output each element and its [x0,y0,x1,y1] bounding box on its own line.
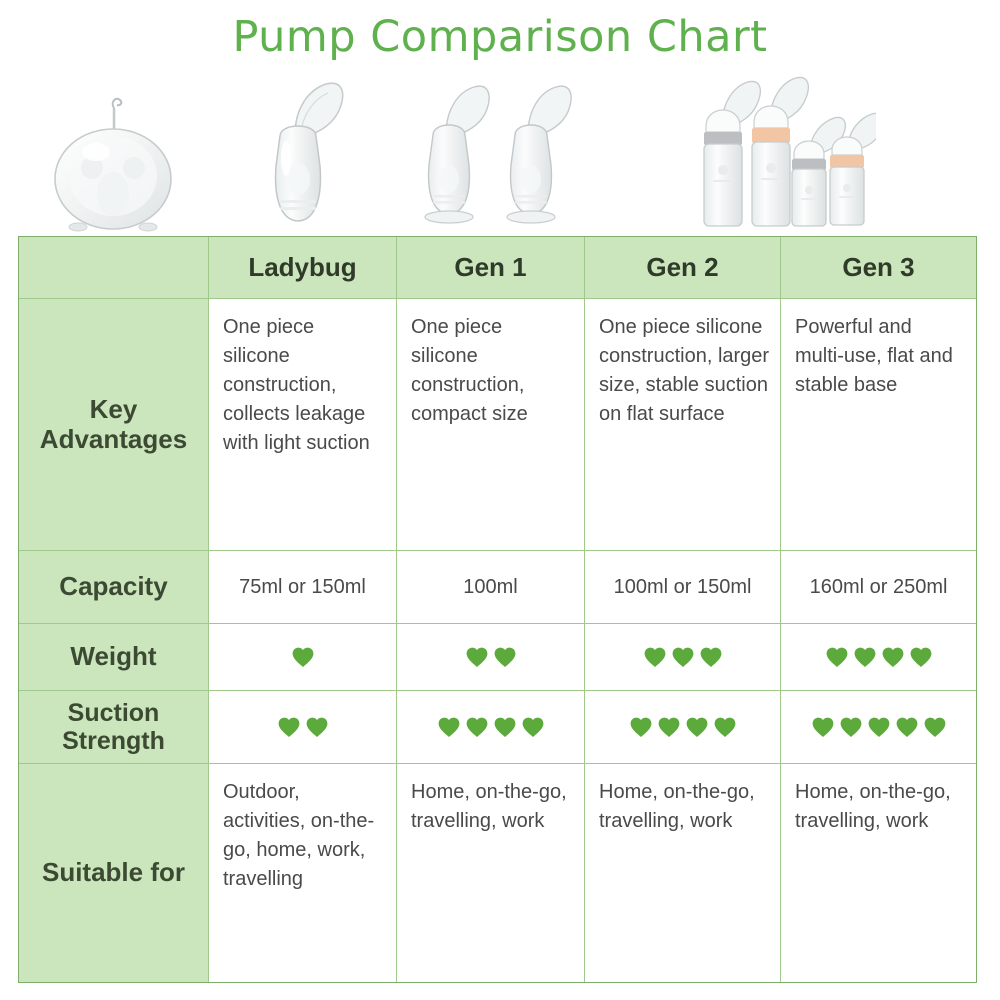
heart-icon [866,714,892,740]
table-row-capacity: Capacity 75ml or 150ml 100ml 100ml or 15… [19,551,976,624]
table-row-key-advantages: Key Advantages One piece silicone constr… [19,299,976,551]
row-label-suction-strength: Suction Strength [19,691,209,763]
heart-icon [894,714,920,740]
heart-icon [670,644,696,670]
heart-icon [880,644,906,670]
heart-icon [698,644,724,670]
heart-icon [642,644,668,670]
heart-icon [520,714,546,740]
table-corner-cell [19,237,209,298]
comparison-table: Ladybug Gen 1 Gen 2 Gen 3 Key Advantages… [18,236,977,983]
cell-weight-ladybug [209,624,397,690]
row-label-suitable-for: Suitable for [19,764,209,982]
cell-suction-gen3 [781,691,976,763]
heart-icon [492,644,518,670]
cell-weight-gen2 [585,624,781,690]
heart-icon [838,714,864,740]
cell-key-advantages-ladybug: One piece silicone construction, collect… [209,299,397,550]
cell-capacity-gen2: 100ml or 150ml [585,551,781,623]
cell-suitable-ladybug: Outdoor, activities, on-the-go, home, wo… [209,764,397,982]
heart-icon [908,644,934,670]
row-label-capacity: Capacity [19,551,209,623]
heart-icon [492,714,518,740]
heart-icon [276,714,302,740]
cell-capacity-gen3: 160ml or 250ml [781,551,976,623]
heart-icon [464,644,490,670]
gen2-pump-image [396,62,584,234]
heart-icon [290,644,316,670]
column-header-gen3: Gen 3 [781,237,976,298]
heart-icon [684,714,710,740]
heart-icon [436,714,462,740]
gen3-pump-image [584,62,977,234]
column-header-gen1: Gen 1 [397,237,585,298]
cell-key-advantages-gen2: One piece silicone construction, larger … [585,299,781,550]
heart-icon [712,714,738,740]
cell-suitable-gen3: Home, on-the-go, travelling, work [781,764,976,982]
table-row-weight: Weight [19,624,976,691]
gen1-pump-image [208,62,396,234]
row-label-key-advantages: Key Advantages [19,299,209,550]
cell-key-advantages-gen1: One piece silicone construction, compact… [397,299,585,550]
cell-capacity-gen1: 100ml [397,551,585,623]
cell-weight-gen1 [397,624,585,690]
ladybug-pump-image [18,62,208,234]
heart-icon [922,714,948,740]
cell-suction-ladybug [209,691,397,763]
table-row-suction-strength: Suction Strength [19,691,976,764]
column-header-ladybug: Ladybug [209,237,397,298]
pump-comparison-page: Pump Comparison Chart [0,0,1000,1000]
heart-icon [304,714,330,740]
heart-icon [464,714,490,740]
cell-suitable-gen2: Home, on-the-go, travelling, work [585,764,781,982]
cell-suction-gen2 [585,691,781,763]
column-header-gen2: Gen 2 [585,237,781,298]
heart-icon [810,714,836,740]
cell-weight-gen3 [781,624,976,690]
table-row-suitable-for: Suitable for Outdoor, activities, on-the… [19,764,976,982]
heart-icon [824,644,850,670]
cell-suitable-gen1: Home, on-the-go, travelling, work [397,764,585,982]
heart-icon [656,714,682,740]
row-label-weight: Weight [19,624,209,690]
heart-icon [628,714,654,740]
cell-key-advantages-gen3: Powerful and multi-use, flat and stable … [781,299,976,550]
product-image-strip [18,62,977,234]
cell-suction-gen1 [397,691,585,763]
page-title: Pump Comparison Chart [0,12,1000,62]
cell-capacity-ladybug: 75ml or 150ml [209,551,397,623]
table-header-row: Ladybug Gen 1 Gen 2 Gen 3 [19,237,976,299]
heart-icon [852,644,878,670]
